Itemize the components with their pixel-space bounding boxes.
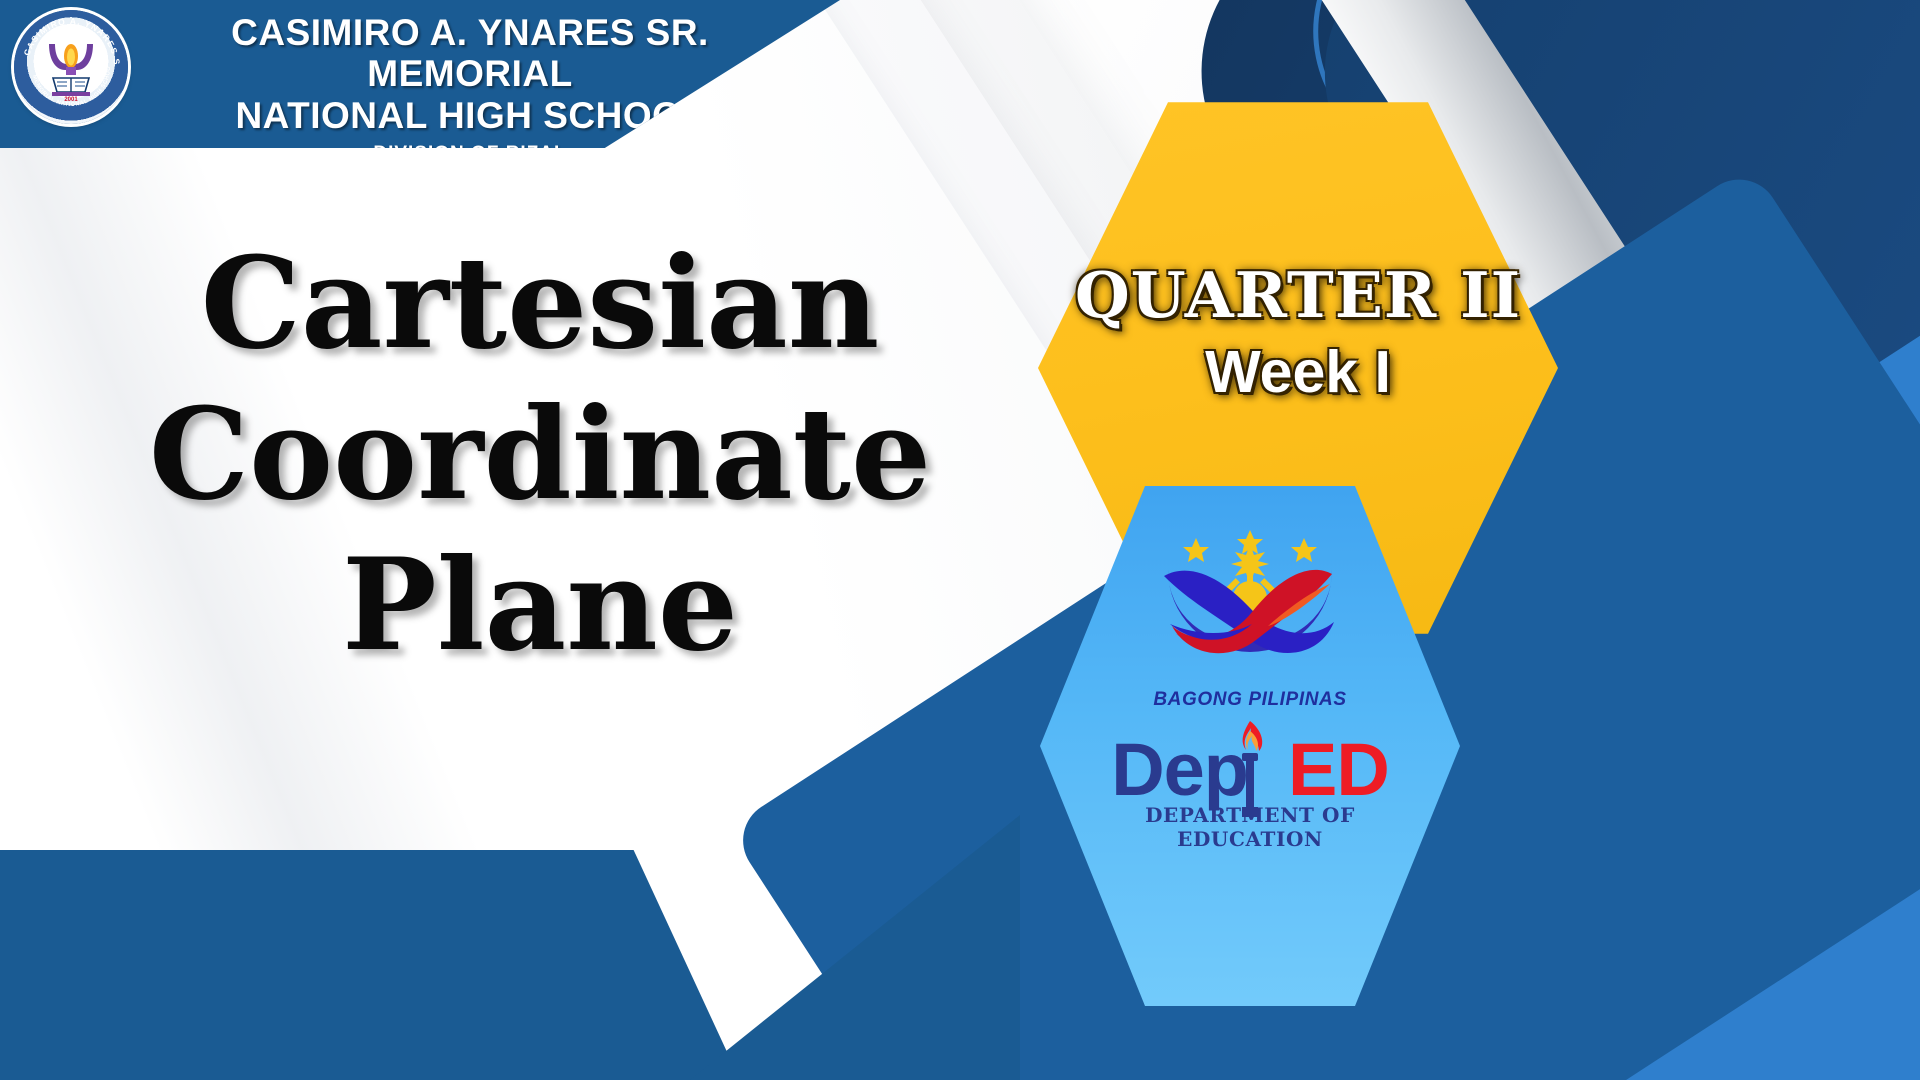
week-label: Week I xyxy=(1038,339,1558,405)
bagong-pilipinas-label: BAGONG PILIPINAS xyxy=(1134,689,1366,711)
deped-logo: Dep ED DEPARTMENT OF EDUCATION xyxy=(1100,735,1400,851)
bagong-pilipinas-logo: BAGONG PILIPINAS xyxy=(1134,530,1366,711)
quarter-label: QUARTER II xyxy=(1038,262,1558,329)
page-title: Cartesian Coordinate Plane xyxy=(140,228,940,682)
title-line-1: Cartesian xyxy=(140,228,940,379)
quarter-badge-text: QUARTER II Week I xyxy=(1038,262,1558,405)
deped-ed-text: ED xyxy=(1288,735,1389,805)
logos-hexagon: BAGONG PILIPINAS Dep ED DEPARTMENT OF ED… xyxy=(1040,478,1460,1014)
torch-icon xyxy=(1215,719,1285,829)
school-name-line1: CASIMIRO A. YNARES SR. MEMORIAL xyxy=(134,12,806,95)
bottom-left-blue-shape xyxy=(0,850,740,1080)
school-seal-icon: CASIMIRO A. YNARES SR. MEMORIAL NATIONAL… xyxy=(14,10,128,124)
bagong-pilipinas-icon xyxy=(1134,530,1366,682)
title-line-2: Coordinate xyxy=(140,379,940,530)
svg-text:2001: 2001 xyxy=(64,97,78,103)
title-line-3: Plane xyxy=(140,530,940,681)
slide-canvas: CASIMIRO A. YNARES SR. MEMORIAL NATIONAL… xyxy=(0,0,1920,1080)
